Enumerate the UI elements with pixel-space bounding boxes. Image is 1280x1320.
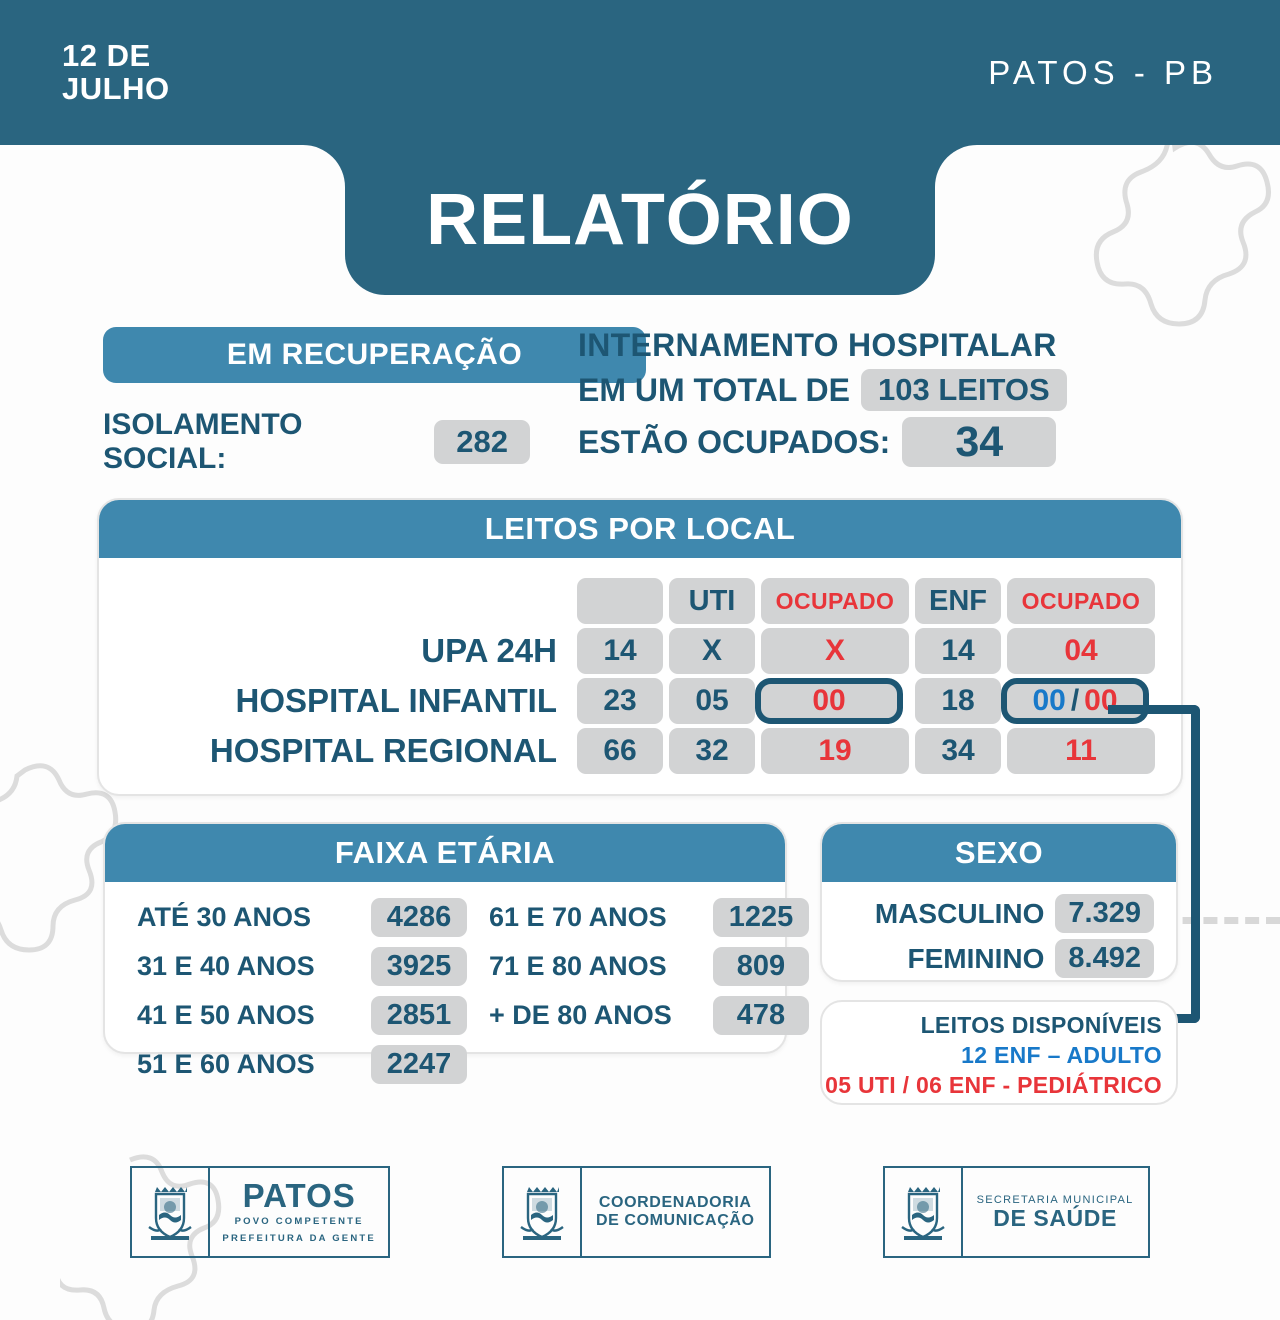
age-value-71-80: 809 [713, 947, 809, 986]
title-tab-right-nub [935, 145, 977, 187]
infantil-enf: 18 [915, 678, 1001, 724]
city-label: PATOS - PB [988, 54, 1218, 92]
age-label-41-50: 41 E 50 ANOS [137, 1000, 361, 1031]
infantil-total: 23 [577, 678, 663, 724]
age-range-card: FAIXA ETÁRIA ATÉ 30 ANOS 4286 31 E 40 AN… [103, 822, 787, 1054]
infantil-enf-occupied-blue: 00 [1032, 684, 1065, 718]
callout-connector-line [1108, 705, 1200, 1023]
logo-coordenadoria-line2: DE COMUNICAÇÃO [596, 1212, 755, 1230]
footer-logos: PATOS POVO COMPETENTE PREFEITURA DA GENT… [0, 1166, 1280, 1258]
age-value-ate-30: 4286 [371, 898, 467, 937]
recovery-stats: EM RECUPERAÇÃO ISOLAMENTO SOCIAL: 282 [0, 327, 560, 476]
isolation-value: 282 [434, 420, 530, 464]
table-row: HOSPITAL INFANTIL 23 05 00 18 00 / 00 [210, 678, 1155, 724]
table-row: HOSPITAL REGIONAL 66 32 19 34 11 [210, 728, 1155, 774]
beds-row-label-upa: UPA 24H [210, 628, 571, 674]
list-item: 51 E 60 ANOS 2247 [137, 1045, 467, 1084]
crest-icon [885, 1168, 963, 1256]
report-date-line2: JULHO [62, 73, 170, 106]
hospitalization-total-row: EM UM TOTAL DE 103 LEITOS [578, 369, 1280, 411]
list-item: 31 E 40 ANOS 3925 [137, 947, 467, 986]
table-row: UPA 24H 14 X X 14 04 [210, 628, 1155, 674]
hospitalization-title: INTERNAMENTO HOSPITALAR [578, 327, 1280, 364]
age-label-71-80: 71 E 80 ANOS [489, 951, 703, 982]
age-value-41-50: 2851 [371, 996, 467, 1035]
top-bar: 12 DE JULHO PATOS - PB [0, 0, 1280, 145]
coat-of-arms-icon [519, 1181, 565, 1243]
sex-label-feminino: FEMININO [908, 943, 1045, 975]
beds-header-total [577, 578, 663, 624]
beds-card-title: LEITOS POR LOCAL [99, 500, 1181, 558]
crest-icon [132, 1168, 210, 1256]
crest-icon [504, 1168, 582, 1256]
regional-enf: 34 [915, 728, 1001, 774]
isolation-row: ISOLAMENTO SOCIAL: 282 [103, 408, 560, 476]
beds-by-location-card: LEITOS POR LOCAL UTI OCUPADO ENF OCUPADO… [97, 498, 1183, 796]
age-card-body: ATÉ 30 ANOS 4286 31 E 40 ANOS 3925 41 E … [105, 882, 785, 1084]
logo-patos-word: PATOS [243, 1179, 356, 1212]
hospitalization-occupied-label: ESTÃO OCUPADOS: [578, 424, 890, 461]
age-label-plus-80: + DE 80 ANOS [489, 1000, 703, 1031]
hospitalization-total-value: 103 LEITOS [861, 369, 1067, 411]
beds-row-label-regional: HOSPITAL REGIONAL [210, 728, 571, 774]
list-item: 71 E 80 ANOS 809 [489, 947, 809, 986]
list-item: ATÉ 30 ANOS 4286 [137, 898, 467, 937]
upa-enf-occupied: 04 [1007, 628, 1155, 674]
available-beds-adult: 12 ENF – ADULTO [822, 1042, 1162, 1069]
title-tab: RELATÓRIO [345, 145, 935, 295]
logo-saude-line2: DE SAÚDE [993, 1206, 1117, 1230]
summary-stats: EM RECUPERAÇÃO ISOLAMENTO SOCIAL: 282 IN… [0, 295, 1280, 476]
logo-patos-tagline-1: POVO COMPETENTE [235, 1216, 364, 1229]
beds-header-enf: ENF [915, 578, 1001, 624]
upa-enf: 14 [915, 628, 1001, 674]
age-value-plus-80: 478 [713, 996, 809, 1035]
hospitalization-occupied-row: ESTÃO OCUPADOS: 34 [578, 417, 1280, 467]
logo-coordenadoria-line1: COORDENADORIA [599, 1194, 752, 1212]
beds-header-enf-occupied: OCUPADO [1007, 578, 1155, 624]
age-label-51-60: 51 E 60 ANOS [137, 1049, 361, 1080]
logo-patos: PATOS POVO COMPETENTE PREFEITURA DA GENT… [130, 1166, 390, 1258]
upa-uti-occupied: X [761, 628, 909, 674]
list-item: 41 E 50 ANOS 2851 [137, 996, 467, 1035]
title-tab-left-nub [303, 145, 345, 187]
logo-saude-text: SECRETARIA MUNICIPAL DE SAÚDE [963, 1168, 1148, 1256]
available-beds-box: LEITOS DISPONÍVEIS 12 ENF – ADULTO 05 UT… [820, 1000, 1178, 1105]
logo-coordenadoria-text: COORDENADORIA DE COMUNICAÇÃO [582, 1168, 769, 1256]
age-label-ate-30: ATÉ 30 ANOS [137, 902, 361, 933]
logo-coordenadoria: COORDENADORIA DE COMUNICAÇÃO [502, 1166, 771, 1258]
hospitalization-occupied-value: 34 [902, 417, 1056, 467]
report-date: 12 DE JULHO [62, 40, 170, 105]
logo-patos-text: PATOS POVO COMPETENTE PREFEITURA DA GENT… [210, 1168, 388, 1256]
hospitalization-stats: INTERNAMENTO HOSPITALAR EM UM TOTAL DE 1… [560, 327, 1280, 476]
isolation-label: ISOLAMENTO SOCIAL: [103, 408, 422, 476]
beds-table-header-row: UTI OCUPADO ENF OCUPADO [210, 578, 1155, 624]
hospitalization-total-label: EM UM TOTAL DE [578, 372, 850, 409]
infantil-enf-occupied-separator: / [1066, 684, 1084, 718]
page-title: RELATÓRIO [426, 179, 854, 261]
infantil-uti-occupied-highlighted: 00 [755, 678, 903, 724]
age-column-1: ATÉ 30 ANOS 4286 31 E 40 ANOS 3925 41 E … [137, 898, 467, 1084]
coat-of-arms-icon [147, 1181, 193, 1243]
available-beds-pediatric: 05 UTI / 06 ENF - PEDIÁTRICO [822, 1072, 1162, 1099]
regional-uti: 32 [669, 728, 755, 774]
title-area: RELATÓRIO [0, 145, 1280, 295]
coat-of-arms-icon [900, 1181, 946, 1243]
age-column-2: 61 E 70 ANOS 1225 71 E 80 ANOS 809 + DE … [489, 898, 809, 1084]
beds-header-uti-occupied: OCUPADO [761, 578, 909, 624]
beds-header-uti: UTI [669, 578, 755, 624]
report-date-line1: 12 DE [62, 40, 170, 73]
age-label-61-70: 61 E 70 ANOS [489, 902, 703, 933]
regional-uti-occupied: 19 [761, 728, 909, 774]
logo-patos-tagline-2: PREFEITURA DA GENTE [222, 1233, 376, 1246]
age-value-51-60: 2247 [371, 1045, 467, 1084]
upa-total: 14 [577, 628, 663, 674]
list-item: 61 E 70 ANOS 1225 [489, 898, 809, 937]
logo-saude: SECRETARIA MUNICIPAL DE SAÚDE [883, 1166, 1150, 1258]
age-value-31-40: 3925 [371, 947, 467, 986]
age-value-61-70: 1225 [713, 898, 809, 937]
list-item: + DE 80 ANOS 478 [489, 996, 809, 1035]
beds-table-body: UTI OCUPADO ENF OCUPADO UPA 24H 14 X X 1… [99, 558, 1181, 797]
upa-uti: X [669, 628, 755, 674]
regional-total: 66 [577, 728, 663, 774]
age-label-31-40: 31 E 40 ANOS [137, 951, 361, 982]
age-card-title: FAIXA ETÁRIA [105, 824, 785, 882]
available-beds-title: LEITOS DISPONÍVEIS [822, 1012, 1162, 1039]
beds-row-label-infantil: HOSPITAL INFANTIL [210, 678, 571, 724]
beds-table: UTI OCUPADO ENF OCUPADO UPA 24H 14 X X 1… [204, 574, 1161, 778]
sex-label-masculino: MASCULINO [875, 898, 1045, 930]
infantil-uti: 05 [669, 678, 755, 724]
